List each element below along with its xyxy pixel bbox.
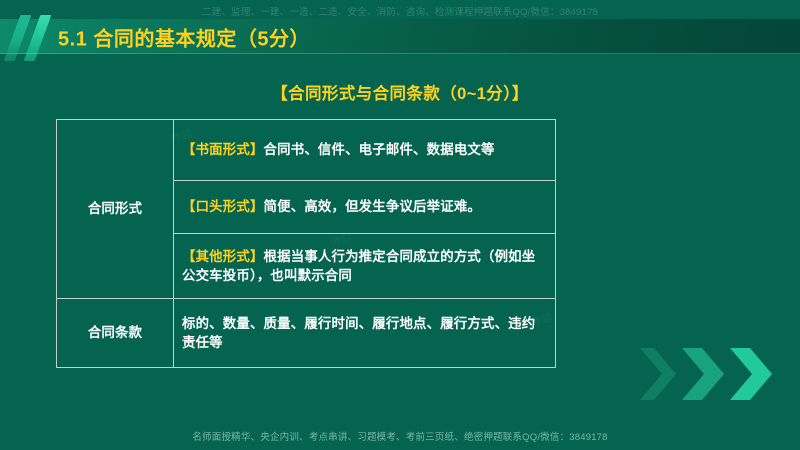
- cell-tag: 【书面形式】: [182, 142, 264, 157]
- chevron-right-icon: [640, 348, 676, 400]
- chevron-arrows-decoration: [640, 344, 790, 404]
- table-cell: 标的、数量、质量、履行时间、履行地点、履行方式、违约责任等: [174, 299, 556, 368]
- bottom-watermark-text: 名师面授精华、央企内训、考点串讲、习题模考、考前三页纸、绝密押题联系QQ/微信：…: [0, 429, 800, 443]
- cell-text: 标的、数量、质量、履行时间、履行地点、履行方式、违约责任等: [182, 316, 535, 350]
- cell-tag: 【口头形式】: [182, 199, 264, 214]
- chevron-right-icon: [730, 348, 772, 400]
- row-label-contract-forms: 合同形式: [57, 120, 174, 299]
- top-watermark-text: 二建、监理、一建、一造、二造、安全、消防、咨询、检测课程押题联系QQ/微信：38…: [0, 4, 800, 18]
- table-cell: 【其他形式】根据当事人行为推定合同成立的方式（例如坐公交车投币），也叫默示合同: [174, 234, 556, 299]
- cell-text: 简便、高效，但发生争议后举证难。: [264, 199, 481, 214]
- table-cell: 【书面形式】合同书、信件、电子邮件、数据电文等: [174, 120, 556, 181]
- table-row: 合同形式 【书面形式】合同书、信件、电子邮件、数据电文等: [57, 120, 556, 181]
- page-title: 5.1 合同的基本规定（5分）: [58, 22, 310, 51]
- row-label-contract-clauses: 合同条款: [57, 299, 174, 368]
- slide-canvas: 二建、监理、一建、一造、二造、安全、消防、咨询、检测课程押题联系QQ/微信：38…: [0, 0, 800, 450]
- title-bar: 5.1 合同的基本规定（5分）: [0, 19, 800, 54]
- table-cell: 【口头形式】简便、高效，但发生争议后举证难。: [174, 181, 556, 234]
- table-row: 合同条款 标的、数量、质量、履行时间、履行地点、履行方式、违约责任等: [57, 299, 556, 368]
- chevron-right-icon: [682, 348, 724, 400]
- cell-tag: 【其他形式】: [182, 249, 264, 264]
- cell-text: 合同书、信件、电子邮件、数据电文等: [264, 142, 495, 157]
- section-subtitle: 【合同形式与合同条款（0~1分）】: [0, 80, 800, 104]
- contract-table: 合同形式 【书面形式】合同书、信件、电子邮件、数据电文等 【口头形式】简便、高效…: [56, 119, 556, 368]
